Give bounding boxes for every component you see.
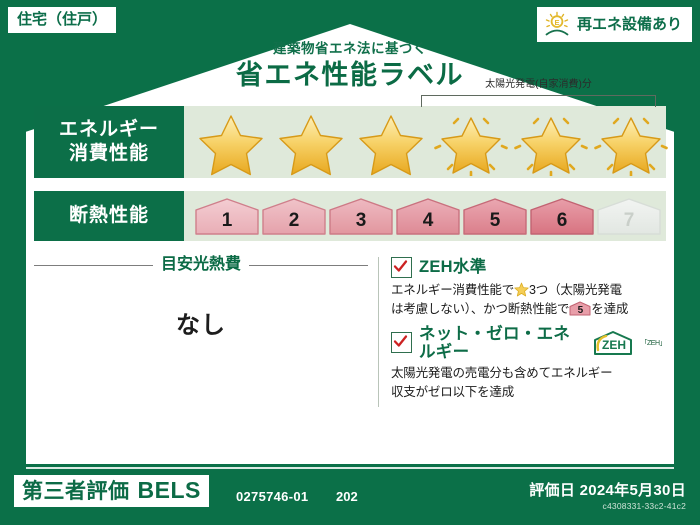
- insulation-grade-badge-inactive: 7: [596, 196, 662, 236]
- zeh-standard-desc-part3: を達成: [591, 302, 628, 316]
- insulation-grade-value: 2: [261, 211, 327, 230]
- star-solar: [512, 108, 590, 176]
- star-solar: [592, 108, 670, 176]
- bels-certificate-number: 0275746-01: [236, 489, 308, 504]
- inline-grade-value: 5: [569, 306, 591, 316]
- insulation-grade-badge: 3: [328, 196, 394, 236]
- check-icon: [393, 259, 408, 274]
- star-plain: [272, 108, 350, 176]
- solar-sun-icon: E: [543, 11, 571, 37]
- zeh-standard-description: エネルギー消費性能で3つ（太陽光発電は考慮しない）、かつ断熱性能で5を達成: [391, 281, 666, 319]
- zeh-net-zero-desc-part2: 収支がゼロ以下を達成: [391, 385, 514, 399]
- title-block: 建築物省エネ法に基づく 省エネ性能ラベル: [0, 42, 700, 89]
- insulation-grade-value: 3: [328, 211, 394, 230]
- zeh-item-net-zero: ネット・ゼロ・エネルギー ZEH 「ZEH」 太陽光発電の売電分も含めてエネルギ…: [391, 325, 666, 402]
- insulation-grade-value: 4: [395, 211, 461, 230]
- zeh-item-standard: ZEH水準 エネルギー消費性能で3つ（太陽光発電は考慮しない）、かつ断熱性能で5…: [391, 257, 666, 319]
- rule-right: [249, 265, 368, 266]
- inline-grade-badge: 5: [569, 301, 591, 316]
- footer: 第三者評価 BELS 0275746-01 202 評価日 2024年5月30日…: [0, 467, 700, 525]
- bels-logo-text: BELS: [138, 479, 201, 502]
- renewable-energy-badge: E 再エネ設備あり: [537, 7, 692, 42]
- bels-chip: 第三者評価 BELS: [14, 475, 209, 507]
- evaluation-date-label: 評価日: [529, 482, 575, 499]
- star-solar: [432, 108, 510, 176]
- zeh-section: ZEH水準 エネルギー消費性能で3つ（太陽光発電は考慮しない）、かつ断熱性能で5…: [378, 257, 666, 407]
- rule-left: [34, 265, 153, 266]
- energy-performance-label-box: エネルギー 消費性能: [34, 106, 184, 178]
- insulation-grade-badge: 4: [395, 196, 461, 236]
- zeh-net-zero-description: 太陽光発電の売電分も含めてエネルギー収支がゼロ以下を達成: [391, 364, 666, 402]
- energy-performance-label-line2: 消費性能: [59, 142, 159, 166]
- check-icon: [393, 334, 408, 349]
- utility-cost-value: なし: [34, 305, 368, 340]
- zeh-standard-desc-part2: は考慮しない）、かつ断熱性能で: [391, 302, 569, 316]
- zeh-house-logo-icon: ZEH: [592, 330, 634, 356]
- title-main: 省エネ性能ラベル: [0, 62, 700, 89]
- insulation-performance-row: 断熱性能: [34, 191, 666, 241]
- insulation-performance-body: 1 2 3: [184, 191, 666, 241]
- inline-star-icon: [514, 282, 529, 297]
- utility-cost-heading-row: 目安光熱費: [34, 257, 368, 273]
- zeh-net-zero-title: ネット・ゼロ・エネルギー: [419, 325, 585, 361]
- insulation-grade-badge: 5: [462, 196, 528, 236]
- label-content: エネルギー 消費性能 太陽光発電(自家消費)分: [26, 106, 674, 407]
- insulation-grade-value: 6: [529, 211, 595, 230]
- energy-performance-row: エネルギー 消費性能 太陽光発電(自家消費)分: [34, 106, 666, 178]
- evaluation-date: 評価日 2024年5月30日: [529, 479, 686, 500]
- zeh-net-zero-title-row: ネット・ゼロ・エネルギー ZEH 「ZEH」: [391, 325, 666, 361]
- energy-performance-body: 太陽光発電(自家消費)分: [184, 106, 666, 178]
- zeh-standard-checkbox[interactable]: [391, 257, 412, 278]
- footer-divider: [26, 467, 674, 469]
- insulation-grade-badge: 6: [529, 196, 595, 236]
- insulation-grade-badge: 2: [261, 196, 327, 236]
- bels-secondary-number: 202: [336, 489, 358, 504]
- evaluation-code: c4308331-33c2-41c2: [603, 501, 686, 511]
- third-party-eval-label: 第三者評価: [22, 481, 130, 502]
- lower-section: 目安光熱費 なし ZEH水準 エネ: [34, 257, 666, 407]
- svg-text:E: E: [554, 18, 559, 27]
- star-plain: [352, 108, 430, 176]
- zeh-standard-desc-part1: エネルギー消費性能で: [391, 283, 514, 297]
- energy-performance-label-line1: エネルギー: [59, 118, 159, 142]
- insulation-grade-scale: 1 2 3: [194, 191, 662, 241]
- insulation-performance-label-box: 断熱性能: [34, 191, 184, 241]
- evaluation-date-value: 2024年5月30日: [580, 482, 686, 499]
- zeh-standard-title-row: ZEH水準: [391, 257, 666, 278]
- insulation-grade-value: 7: [596, 211, 662, 230]
- renewable-energy-label: 再エネ設備あり: [577, 17, 682, 32]
- zeh-net-zero-checkbox[interactable]: [391, 332, 412, 353]
- title-subtitle: 建築物省エネ法に基づく: [0, 42, 700, 56]
- zeh-standard-title: ZEH水準: [419, 258, 487, 276]
- insulation-grade-badge: 1: [194, 196, 260, 236]
- energy-performance-label: 住宅（住戸） E 再エネ設備あり 建築物省エネ法に基づく: [0, 0, 700, 525]
- star-plain: [192, 108, 270, 176]
- zeh-logo-trademark: 「ZEH」: [641, 338, 667, 348]
- zeh-standard-desc-star-suffix: 3つ（太陽光発電: [529, 283, 622, 297]
- insulation-grade-value: 1: [194, 211, 260, 230]
- star-rating: [192, 106, 670, 178]
- zeh-net-zero-desc-part1: 太陽光発電の売電分も含めてエネルギー: [391, 366, 612, 380]
- building-type-tag: 住宅（住戸）: [8, 7, 116, 33]
- utility-cost-heading: 目安光熱費: [161, 257, 241, 273]
- svg-text:ZEH: ZEH: [602, 338, 626, 352]
- utility-cost-section: 目安光熱費 なし: [34, 257, 378, 407]
- insulation-grade-value: 5: [462, 211, 528, 230]
